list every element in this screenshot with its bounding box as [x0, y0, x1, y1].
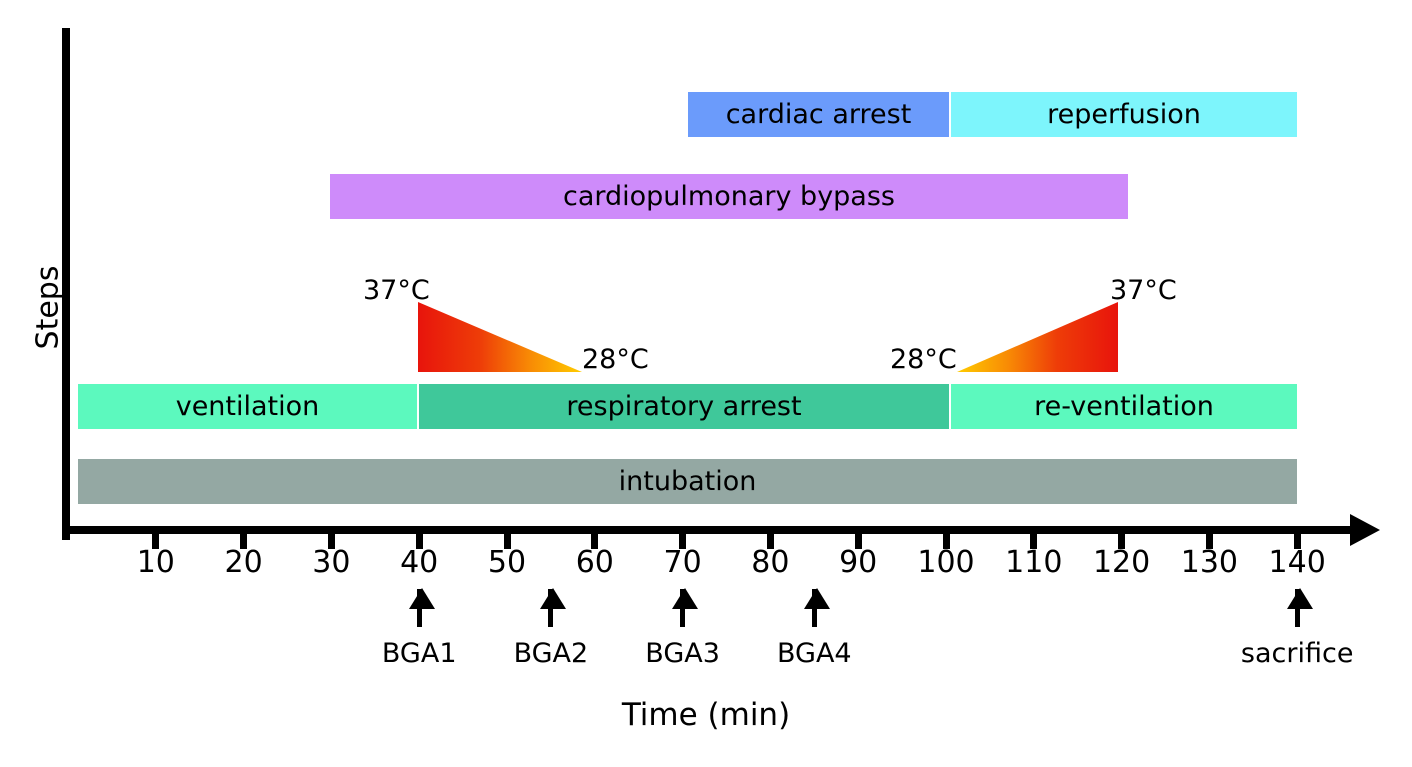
x-axis-tick-label: 130: [1169, 546, 1249, 580]
bar-label-reperfusion: reperfusion: [1047, 99, 1201, 130]
bar-cardiac-arrest: cardiac arrest: [688, 92, 949, 137]
bar-respiratory-arrest: respiratory arrest: [419, 384, 949, 429]
y-axis-title: Steps: [31, 248, 66, 368]
bar-reperfusion: reperfusion: [951, 92, 1297, 137]
bar-intubation: intubation: [78, 459, 1297, 504]
bar-label-cardiac-arrest: cardiac arrest: [726, 99, 912, 130]
bar-label-intubation: intubation: [619, 466, 757, 497]
x-axis-tick-label: 10: [116, 546, 196, 580]
cooling-triangle-icon: [418, 302, 582, 372]
temp-label-rewarming-start: 28°C: [890, 344, 957, 375]
marker-arrow-up-icon: [804, 588, 830, 609]
x-axis-title: Time (min): [0, 697, 1412, 733]
x-axis-line: [62, 526, 1372, 534]
bar-re-ventilation: re-ventilation: [951, 384, 1297, 429]
temp-label-cooling-end: 28°C: [582, 344, 649, 375]
bar-label-ventilation: ventilation: [176, 391, 320, 422]
bar-label-re-ventilation: re-ventilation: [1034, 391, 1214, 422]
rewarming-ramp: [957, 302, 1118, 372]
marker-arrow-up-icon: [672, 588, 698, 609]
bar-cardiopulmonary-bypass: cardiopulmonary bypass: [330, 174, 1128, 219]
marker-label: BGA4: [704, 638, 924, 669]
marker-arrow-up-icon: [540, 588, 566, 609]
x-axis-tick-label: 20: [204, 546, 284, 580]
x-axis-tick-label: 60: [555, 546, 635, 580]
temp-label-rewarming-end: 37°C: [1110, 275, 1177, 306]
timeline-diagram: Steps Time (min) 10203040506070809010011…: [0, 0, 1412, 767]
x-axis-tick-label: 140: [1257, 546, 1337, 580]
bar-label-cardiopulmonary-bypass: cardiopulmonary bypass: [563, 181, 895, 212]
cooling-ramp: [418, 302, 582, 372]
temp-label-cooling-start: 37°C: [363, 275, 430, 306]
x-axis-tick-label: 110: [994, 546, 1074, 580]
bar-ventilation: ventilation: [78, 384, 417, 429]
marker-label: sacrifice: [1187, 638, 1407, 669]
x-axis-tick-label: 120: [1082, 546, 1162, 580]
x-axis-tick-label: 90: [818, 546, 898, 580]
x-axis-tick-label: 100: [906, 546, 986, 580]
marker-arrow-up-icon: [409, 588, 435, 609]
x-axis-tick-label: 50: [467, 546, 547, 580]
marker-arrow-up-icon: [1287, 588, 1313, 609]
bar-label-respiratory-arrest: respiratory arrest: [566, 391, 801, 422]
x-axis-arrowhead: [1350, 514, 1380, 546]
rewarming-triangle-icon: [957, 302, 1118, 372]
x-axis-tick-label: 30: [291, 546, 371, 580]
x-axis-tick-label: 40: [379, 546, 459, 580]
x-axis-tick-label: 80: [730, 546, 810, 580]
x-axis-tick-label: 70: [643, 546, 723, 580]
